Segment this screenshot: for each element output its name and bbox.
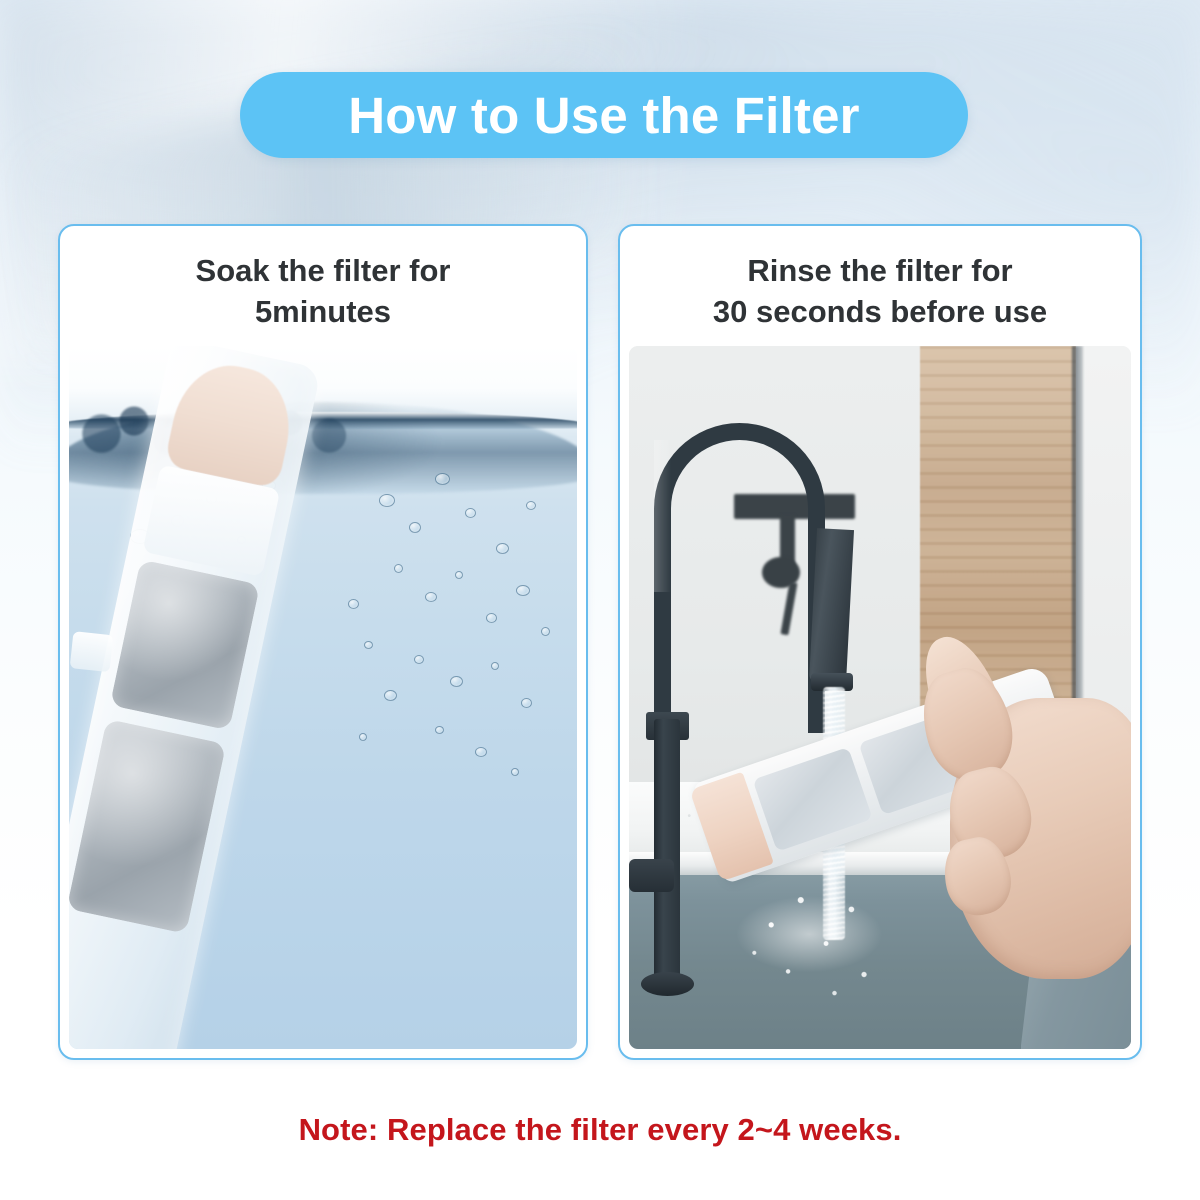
filter-strip-pad-lower <box>69 719 226 934</box>
filter-strip-held-pad-lower <box>753 747 873 851</box>
step-caption-soak: Soak the filter for 5minutes <box>60 250 586 332</box>
infographic-page: How to Use the Filter Soak the filter fo… <box>0 0 1200 1200</box>
faucet-spout <box>809 528 854 684</box>
step-card-soak: Soak the filter for 5minutes <box>58 224 588 1060</box>
rinse-photo <box>629 346 1131 1049</box>
step-card-rinse: Rinse the filter for 30 seconds before u… <box>618 224 1142 1060</box>
filter-strip-tab <box>70 631 113 672</box>
water-splash <box>729 866 940 1021</box>
faucet-neck <box>654 423 825 732</box>
replacement-note: Note: Replace the filter every 2~4 weeks… <box>0 1112 1200 1148</box>
step-caption-rinse: Rinse the filter for 30 seconds before u… <box>620 250 1140 332</box>
faucet-body <box>654 719 680 993</box>
page-title: How to Use the Filter <box>348 90 859 141</box>
filter-strip-pad-upper <box>110 559 260 730</box>
page-title-pill: How to Use the Filter <box>240 72 968 158</box>
faucet-base <box>641 972 694 996</box>
soak-photo <box>69 346 577 1049</box>
faucet-handle <box>629 859 674 891</box>
